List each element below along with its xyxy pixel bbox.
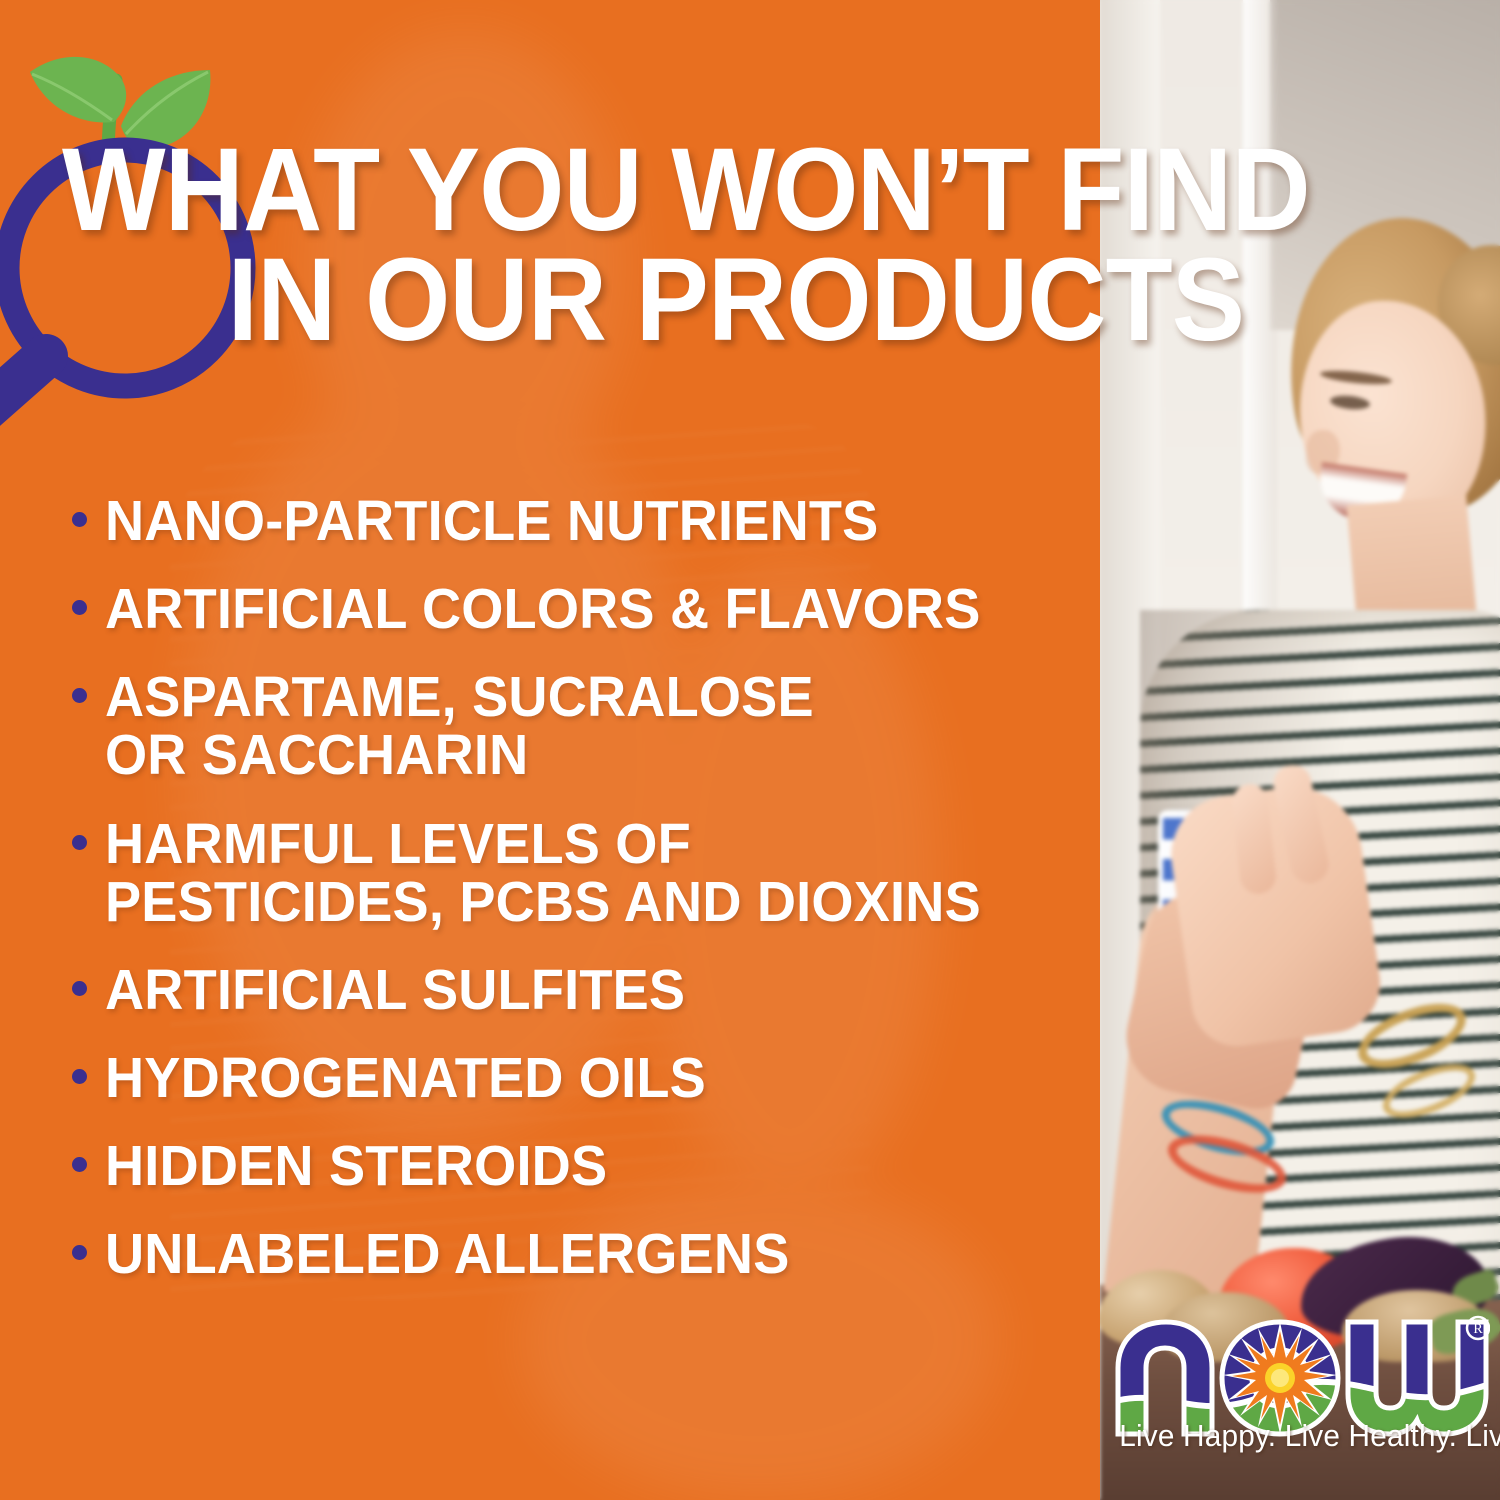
bullet-dot-icon [72,688,87,703]
list-item-line: ARTIFICIAL SULFITES [105,961,685,1019]
bullet-dot-icon [72,600,87,615]
list-item: NANO-PARTICLE NUTRIENTS [72,492,1072,550]
list-item-line: PESTICIDES, PCBS AND DIOXINS [105,873,981,931]
list-item-text: UNLABELED ALLERGENS [105,1225,790,1283]
bullet-dot-icon [72,1157,87,1172]
list-item: ASPARTAME, SUCRALOSE OR SACCHARIN [72,668,1072,784]
list-item-line: HARMFUL LEVELS OF [105,815,981,873]
brand-tagline: Live Happy. Live Healthy. Live NOW. [1119,1418,1465,1454]
bullet-dot-icon [72,981,87,996]
svg-text:R: R [1473,1322,1483,1337]
list-item-line: OR SACCHARIN [105,726,814,784]
list-item: HIDDEN STEROIDS [72,1137,1072,1195]
list-item-text: HARMFUL LEVELS OF PESTICIDES, PCBS AND D… [105,815,981,931]
list-item-text: ARTIFICIAL SULFITES [105,961,685,1019]
promo-graphic: WHAT YOU WON’T FIND IN OUR PRODUCTS NANO… [0,0,1500,1500]
list-item-line: ASPARTAME, SUCRALOSE [105,668,814,726]
list-item-line: HYDROGENATED OILS [105,1049,706,1107]
bullet-dot-icon [72,835,87,850]
list-item-line: NANO-PARTICLE NUTRIENTS [105,492,878,550]
headline-line-2: IN OUR PRODUCTS [62,246,1383,356]
list-item-text: HYDROGENATED OILS [105,1049,706,1107]
bullet-dot-icon [72,512,87,527]
list-item-text: HIDDEN STEROIDS [105,1137,607,1195]
excluded-ingredients-list: NANO-PARTICLE NUTRIENTS ARTIFICIAL COLOR… [72,492,1072,1313]
bullet-dot-icon [72,1245,87,1260]
list-item: HARMFUL LEVELS OF PESTICIDES, PCBS AND D… [72,815,1072,931]
list-item-line: HIDDEN STEROIDS [105,1137,607,1195]
list-item-text: ARTIFICIAL COLORS & FLAVORS [105,580,981,638]
list-item-line: UNLABELED ALLERGENS [105,1225,790,1283]
list-item-text: ASPARTAME, SUCRALOSE OR SACCHARIN [105,668,814,784]
list-item-text: NANO-PARTICLE NUTRIENTS [105,492,878,550]
list-item-line: ARTIFICIAL COLORS & FLAVORS [105,580,981,638]
bullet-dot-icon [72,1069,87,1084]
list-item: HYDROGENATED OILS [72,1049,1072,1107]
list-item: ARTIFICIAL SULFITES [72,961,1072,1019]
list-item: UNLABELED ALLERGENS [72,1225,1072,1283]
list-item: ARTIFICIAL COLORS & FLAVORS [72,580,1072,638]
page-title: WHAT YOU WON’T FIND IN OUR PRODUCTS [62,136,1383,355]
